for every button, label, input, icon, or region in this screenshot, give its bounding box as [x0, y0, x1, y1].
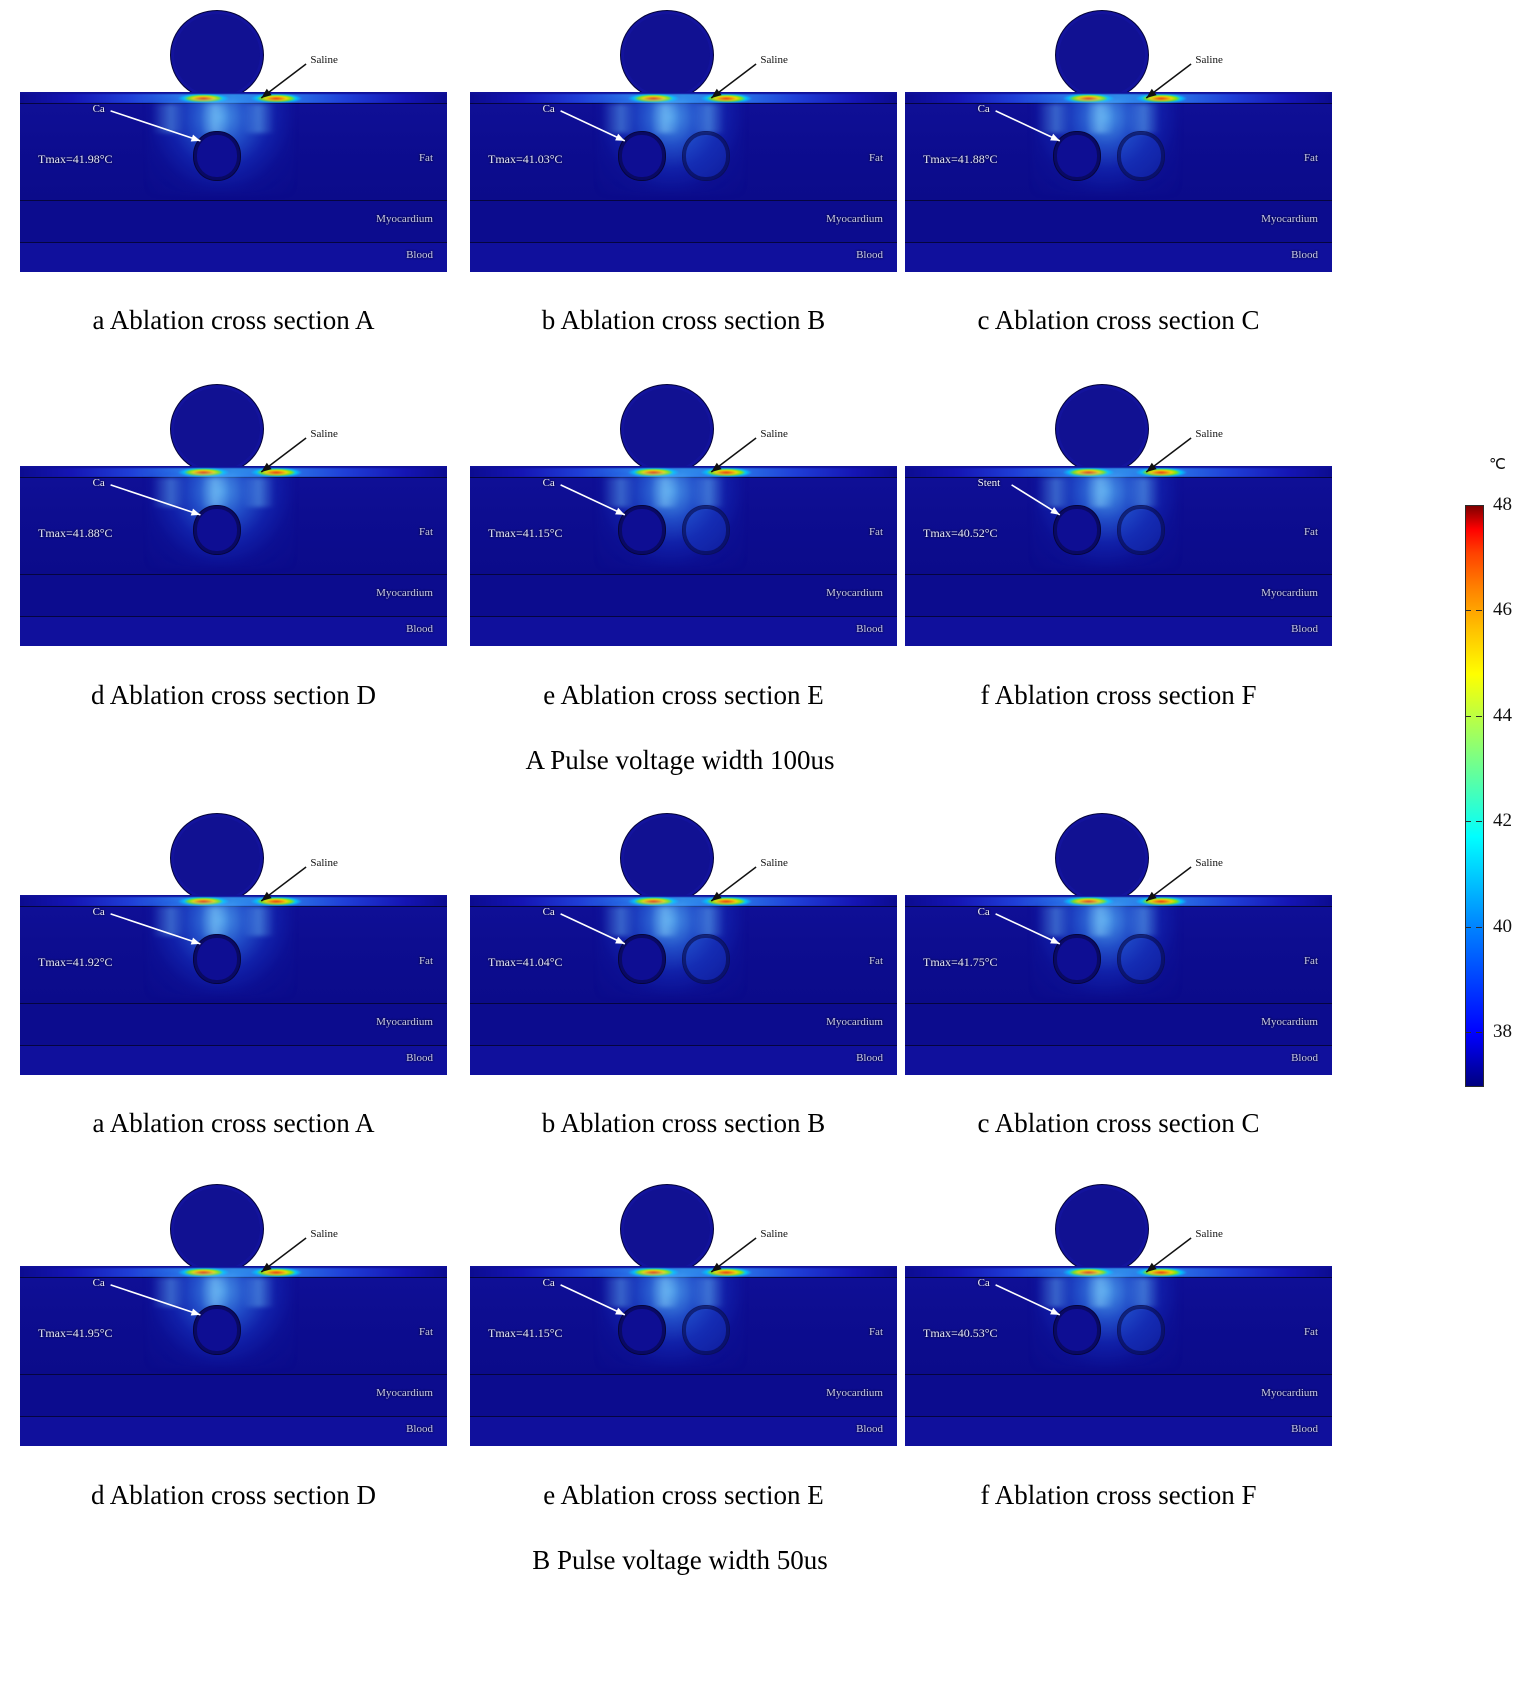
panel-caption: e Ablation cross section E [456, 680, 911, 711]
group-caption: A Pulse voltage width 100us [0, 745, 1360, 776]
colorbar-tick-label: 48 [1493, 494, 1512, 516]
thermal-map-2-1: FatMyocardiumBloodTmax=41.04°CCa [470, 895, 897, 1075]
ablation-figure: FatMyocardiumBloodTmax=41.98°CCaSalinea … [0, 0, 1360, 1682]
panel-caption: b Ablation cross section B [456, 1108, 911, 1139]
panel-caption: e Ablation cross section E [456, 1480, 911, 1511]
marker-leader-arrow [905, 466, 1332, 646]
marker-leader-arrow [470, 895, 897, 1075]
colorbar-tick-label: 42 [1493, 810, 1512, 832]
thermal-map-1-2: FatMyocardiumBloodTmax=40.52°CStent [905, 466, 1332, 646]
marker-leader-arrow [20, 466, 447, 646]
saline-leader-arrow [905, 857, 1332, 917]
colorbar-tick-label: 40 [1493, 916, 1512, 938]
colorbar-tick-label: 46 [1493, 599, 1512, 621]
panel-caption: f Ablation cross section F [891, 1480, 1346, 1511]
saline-leader-arrow [470, 857, 897, 917]
marker-leader-arrow [905, 92, 1332, 272]
saline-leader-arrow [20, 428, 447, 488]
marker-leader-arrow [20, 895, 447, 1075]
panel-caption: d Ablation cross section D [6, 680, 461, 711]
panel-caption: f Ablation cross section F [891, 680, 1346, 711]
marker-leader-arrow [905, 895, 1332, 1075]
temperature-colorbar: ℃ 484644424038 [1455, 455, 1536, 1115]
panel-caption: c Ablation cross section C [891, 305, 1346, 336]
colorbar-tick [1459, 927, 1488, 928]
marker-leader-arrow [20, 1266, 447, 1446]
saline-leader-arrow [905, 1228, 1332, 1288]
marker-leader-arrow [905, 1266, 1332, 1446]
marker-leader-arrow [470, 466, 897, 646]
saline-leader-arrow [470, 1228, 897, 1288]
thermal-map-3-0: FatMyocardiumBloodTmax=41.95°CCa [20, 1266, 447, 1446]
colorbar-tick [1459, 716, 1488, 717]
colorbar-tick [1459, 505, 1488, 506]
saline-leader-arrow [905, 54, 1332, 114]
saline-leader-arrow [470, 428, 897, 488]
marker-leader-arrow [20, 92, 447, 272]
colorbar-unit-label: ℃ [1489, 455, 1506, 474]
panel-caption: d Ablation cross section D [6, 1480, 461, 1511]
thermal-map-0-0: FatMyocardiumBloodTmax=41.98°CCa [20, 92, 447, 272]
panel-caption: a Ablation cross section A [6, 305, 461, 336]
thermal-map-1-0: FatMyocardiumBloodTmax=41.88°CCa [20, 466, 447, 646]
colorbar-tick [1459, 1032, 1488, 1033]
thermal-map-0-1: FatMyocardiumBloodTmax=41.03°CCa [470, 92, 897, 272]
marker-leader-arrow [470, 1266, 897, 1446]
group-caption: B Pulse voltage width 50us [0, 1545, 1360, 1576]
panel-caption: a Ablation cross section A [6, 1108, 461, 1139]
thermal-map-2-2: FatMyocardiumBloodTmax=41.75°CCa [905, 895, 1332, 1075]
saline-leader-arrow [470, 54, 897, 114]
thermal-map-1-1: FatMyocardiumBloodTmax=41.15°CCa [470, 466, 897, 646]
saline-leader-arrow [20, 857, 447, 917]
thermal-map-0-2: FatMyocardiumBloodTmax=41.88°CCa [905, 92, 1332, 272]
panel-caption: c Ablation cross section C [891, 1108, 1346, 1139]
colorbar-tick-label: 44 [1493, 705, 1512, 727]
thermal-map-2-0: FatMyocardiumBloodTmax=41.92°CCa [20, 895, 447, 1075]
panel-caption: b Ablation cross section B [456, 305, 911, 336]
saline-leader-arrow [905, 428, 1332, 488]
marker-leader-arrow [470, 92, 897, 272]
thermal-map-3-2: FatMyocardiumBloodTmax=40.53°CCa [905, 1266, 1332, 1446]
thermal-map-3-1: FatMyocardiumBloodTmax=41.15°CCa [470, 1266, 897, 1446]
saline-leader-arrow [20, 54, 447, 114]
colorbar-tick-label: 38 [1493, 1021, 1512, 1043]
colorbar-tick [1459, 821, 1488, 822]
colorbar-gradient [1465, 505, 1484, 1087]
colorbar-tick [1459, 610, 1488, 611]
saline-leader-arrow [20, 1228, 447, 1288]
